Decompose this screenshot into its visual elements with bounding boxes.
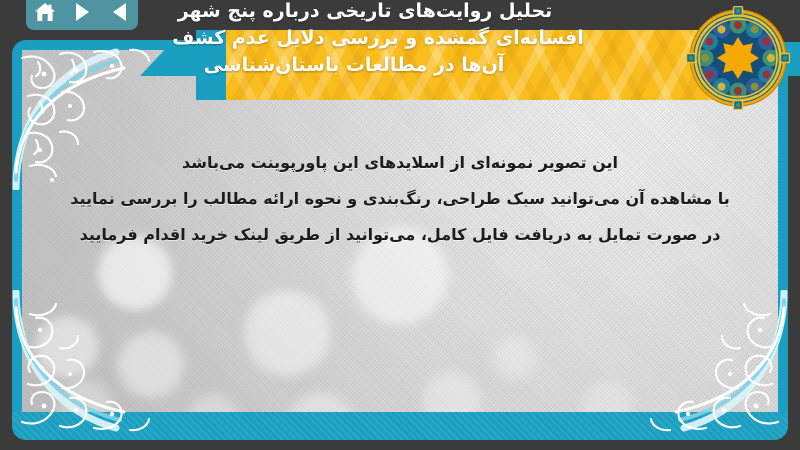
home-button[interactable] [30, 0, 60, 25]
forward-button[interactable] [67, 0, 97, 25]
body-line-2: با مشاهده آن می‌توانید سبک طراحی، رنگ‌بن… [40, 181, 760, 217]
body-line-3: در صورت تمایل به دریافت فایل کامل، می‌تو… [40, 217, 760, 253]
frame-bottom-bar [12, 412, 788, 440]
navigation-bar[interactable] [26, 0, 138, 30]
title-banner [196, 30, 760, 100]
body-line-1: این تصویر نمونه‌ای از اسلایدهای این پاور… [40, 145, 760, 181]
title-banner-pattern [196, 30, 760, 100]
triangle-right-icon [76, 3, 89, 21]
slide-body-text: این تصویر نمونه‌ای از اسلایدهای این پاور… [40, 145, 760, 253]
title-banner-tip [196, 30, 226, 100]
back-button[interactable] [104, 0, 134, 25]
persian-medallion-ornament [686, 6, 790, 110]
home-icon [34, 2, 56, 22]
slide-canvas: این تصویر نمونه‌ای از اسلایدهای این پاور… [0, 0, 800, 450]
triangle-left-icon [113, 3, 126, 21]
